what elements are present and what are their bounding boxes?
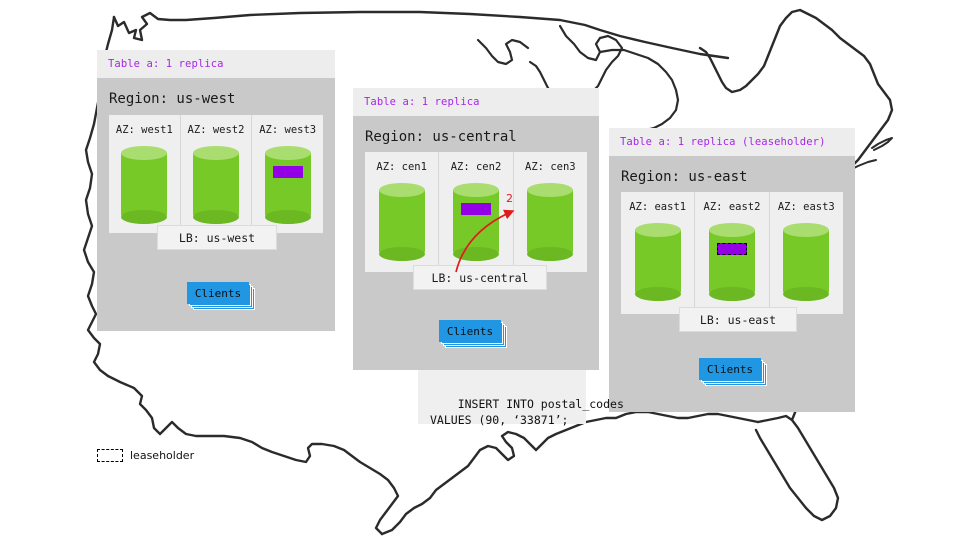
region-panel-us-west: Table a: 1 replicaRegion: us-westAZ: wes… [97, 50, 335, 331]
range-replica-leaseholder[interactable] [717, 243, 747, 255]
cylinder-base-ellipse [453, 247, 499, 261]
node-cylinder[interactable] [379, 183, 425, 261]
legend-label: leaseholder [130, 449, 194, 462]
sql-statement-callout: INSERT INTO postal_codes VALUES (90, ‘33… [418, 370, 586, 424]
arrow-step-label: 2 [506, 192, 513, 205]
legend: leaseholder [97, 449, 194, 462]
range-replica[interactable] [273, 166, 303, 178]
replica-summary-label: Table a: 1 replica [364, 96, 480, 108]
region-panel-us-central: Table a: 1 replicaRegion: us-centralAZ: … [353, 88, 599, 370]
load-balancer-us-east[interactable]: LB: us-east [679, 307, 797, 332]
sql-statement-text: INSERT INTO postal_codes VALUES (90, ‘33… [430, 397, 624, 428]
node-cylinder[interactable] [193, 146, 239, 224]
diagram-canvas: Table a: 1 replicaRegion: us-westAZ: wes… [0, 0, 960, 540]
cylinder-base-ellipse [709, 287, 755, 301]
panel-header-us-east: Table a: 1 replica (leaseholder) [609, 128, 855, 156]
node-cylinder[interactable] [709, 223, 755, 301]
az-cell-east1[interactable]: AZ: east1 [621, 192, 695, 314]
node-cylinder[interactable] [635, 223, 681, 301]
az-label: AZ: west2 [188, 124, 245, 136]
region-title-us-west: Region: us-west [97, 78, 335, 117]
cylinder-top-ellipse [121, 146, 167, 160]
az-cell-cen1[interactable]: AZ: cen1 [365, 152, 439, 272]
az-label: AZ: west1 [116, 124, 173, 136]
cylinder-top-ellipse [265, 146, 311, 160]
cylinder-top-ellipse [527, 183, 573, 197]
panel-header-us-west: Table a: 1 replica [97, 50, 335, 78]
az-label: AZ: east3 [778, 201, 835, 213]
node-cylinder[interactable] [121, 146, 167, 224]
az-label: AZ: cen2 [451, 161, 502, 173]
replica-summary-label: Table a: 1 replica [108, 58, 224, 70]
az-label: AZ: cen1 [376, 161, 427, 173]
az-strip-us-west: AZ: west1AZ: west2AZ: west3 [109, 115, 323, 233]
az-cell-west2[interactable]: AZ: west2 [181, 115, 253, 233]
region-title-us-east: Region: us-east [609, 156, 855, 195]
cylinder-top-ellipse [193, 146, 239, 160]
cylinder-top-ellipse [709, 223, 755, 237]
node-cylinder[interactable] [527, 183, 573, 261]
az-label: AZ: east2 [704, 201, 761, 213]
cylinder-top-ellipse [379, 183, 425, 197]
clients-label[interactable]: Clients [439, 320, 501, 342]
region-panel-us-east: Table a: 1 replica (leaseholder)Region: … [609, 128, 855, 412]
cylinder-base-ellipse [635, 287, 681, 301]
node-cylinder[interactable] [783, 223, 829, 301]
cylinder-top-ellipse [635, 223, 681, 237]
az-strip-us-east: AZ: east1AZ: east2AZ: east3 [621, 192, 843, 314]
cylinder-base-ellipse [527, 247, 573, 261]
leaseholder-swatch-icon [97, 449, 123, 462]
az-cell-cen3[interactable]: AZ: cen3 [514, 152, 587, 272]
clients-button-us-west[interactable]: Clients [187, 282, 253, 306]
panel-header-us-central: Table a: 1 replica [353, 88, 599, 116]
cylinder-base-ellipse [379, 247, 425, 261]
cylinder-base-ellipse [783, 287, 829, 301]
az-cell-cen2[interactable]: AZ: cen2 [439, 152, 513, 272]
az-cell-west1[interactable]: AZ: west1 [109, 115, 181, 233]
clients-label[interactable]: Clients [187, 282, 249, 304]
node-cylinder[interactable] [265, 146, 311, 224]
node-cylinder[interactable] [453, 183, 499, 261]
az-strip-us-central: AZ: cen1AZ: cen2AZ: cen3 [365, 152, 587, 272]
az-cell-west3[interactable]: AZ: west3 [252, 115, 323, 233]
clients-button-us-central[interactable]: Clients [439, 320, 505, 344]
load-balancer-us-central[interactable]: LB: us-central [413, 265, 547, 290]
clients-button-us-east[interactable]: Clients [699, 358, 765, 382]
az-cell-east2[interactable]: AZ: east2 [695, 192, 769, 314]
cylinder-top-ellipse [453, 183, 499, 197]
az-label: AZ: east1 [629, 201, 686, 213]
load-balancer-us-west[interactable]: LB: us-west [157, 225, 277, 250]
cylinder-base-ellipse [265, 210, 311, 224]
replica-summary-label: Table a: 1 replica (leaseholder) [620, 136, 826, 148]
az-cell-east3[interactable]: AZ: east3 [770, 192, 843, 314]
az-label: AZ: west3 [259, 124, 316, 136]
range-replica[interactable] [461, 203, 491, 215]
cylinder-base-ellipse [193, 210, 239, 224]
clients-label[interactable]: Clients [699, 358, 761, 380]
region-title-us-central: Region: us-central [353, 116, 599, 155]
cylinder-base-ellipse [121, 210, 167, 224]
az-label: AZ: cen3 [525, 161, 576, 173]
cylinder-top-ellipse [783, 223, 829, 237]
